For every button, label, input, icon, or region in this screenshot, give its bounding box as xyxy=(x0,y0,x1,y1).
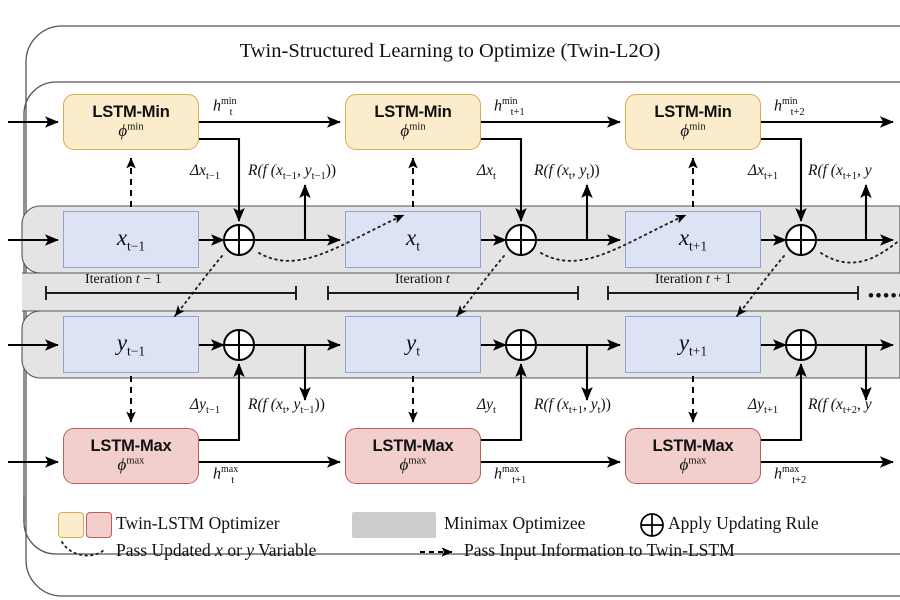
legend-pass-input-label: Pass Input Information to Twin-LSTM xyxy=(464,540,735,561)
dotted-curve-icon xyxy=(62,542,104,556)
legend-pass-updated-label: Pass Updated x or y Variable xyxy=(116,540,316,561)
legend-icons-layer xyxy=(0,0,900,600)
diagram-canvas: LSTM-Min ϕmin LSTM-Min ϕmin LSTM-Min ϕmi… xyxy=(0,0,900,600)
plus-circle-icon xyxy=(641,514,663,536)
legend-apply-rule-label: Apply Updating Rule xyxy=(668,513,819,534)
